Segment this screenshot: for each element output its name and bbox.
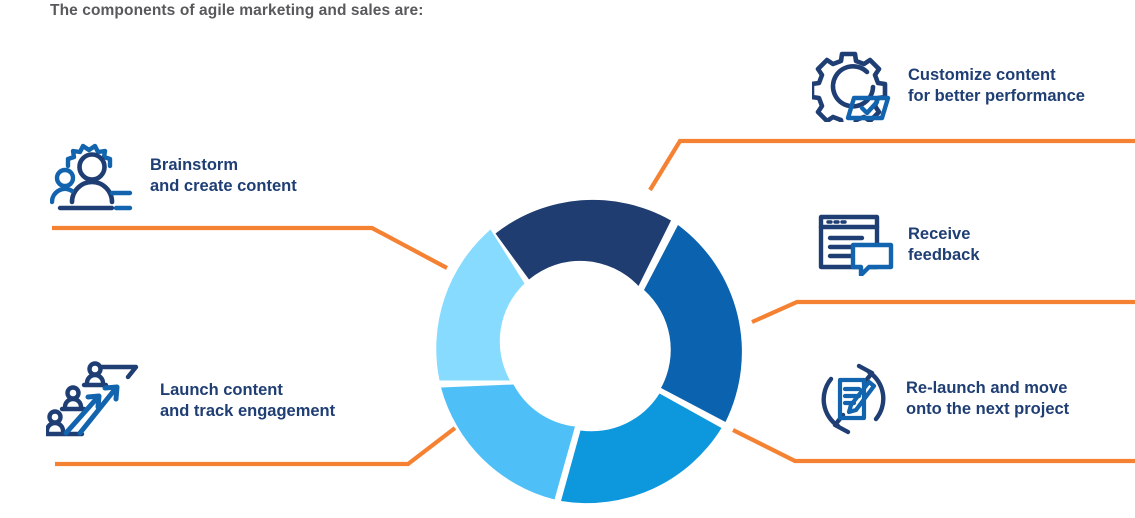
gear-checkmark-icon	[812, 50, 894, 122]
item-brainstorm-line1: Brainstorm	[150, 155, 297, 176]
item-launch-line2: and track engagement	[160, 401, 335, 422]
connector-brainstorm	[52, 228, 447, 268]
wheel-segment-relaunch	[561, 394, 722, 504]
connector-feedback	[752, 302, 1135, 322]
wheel-segment-launch	[441, 385, 575, 500]
agile-cycle-wheel	[425, 182, 755, 512]
item-launch: Launch content and track engagement	[46, 360, 335, 442]
item-customize: Customize content for better performance	[812, 50, 1085, 122]
item-customize-line2: for better performance	[908, 86, 1085, 107]
wheel-segment-customize	[496, 200, 672, 286]
people-gear-icon	[50, 140, 136, 212]
wheel-segment-feedback	[644, 225, 742, 422]
item-launch-line1: Launch content	[160, 380, 335, 401]
document-speech-bubble-icon	[818, 214, 894, 276]
item-brainstorm: Brainstorm and create content	[50, 140, 297, 212]
item-feedback-line1: Receive	[908, 224, 980, 245]
item-customize-line1: Customize content	[908, 65, 1085, 86]
item-brainstorm-line2: and create content	[150, 176, 297, 197]
wheel-segments	[436, 200, 742, 503]
document-pencil-refresh-icon	[816, 362, 892, 436]
growth-arrows-people-icon	[46, 360, 146, 442]
item-relaunch-line1: Re-launch and move	[906, 378, 1069, 399]
item-relaunch: Re-launch and move onto the next project	[816, 362, 1069, 436]
item-feedback: Receive feedback	[818, 214, 980, 276]
item-relaunch-line2: onto the next project	[906, 399, 1069, 420]
item-feedback-line2: feedback	[908, 245, 980, 266]
